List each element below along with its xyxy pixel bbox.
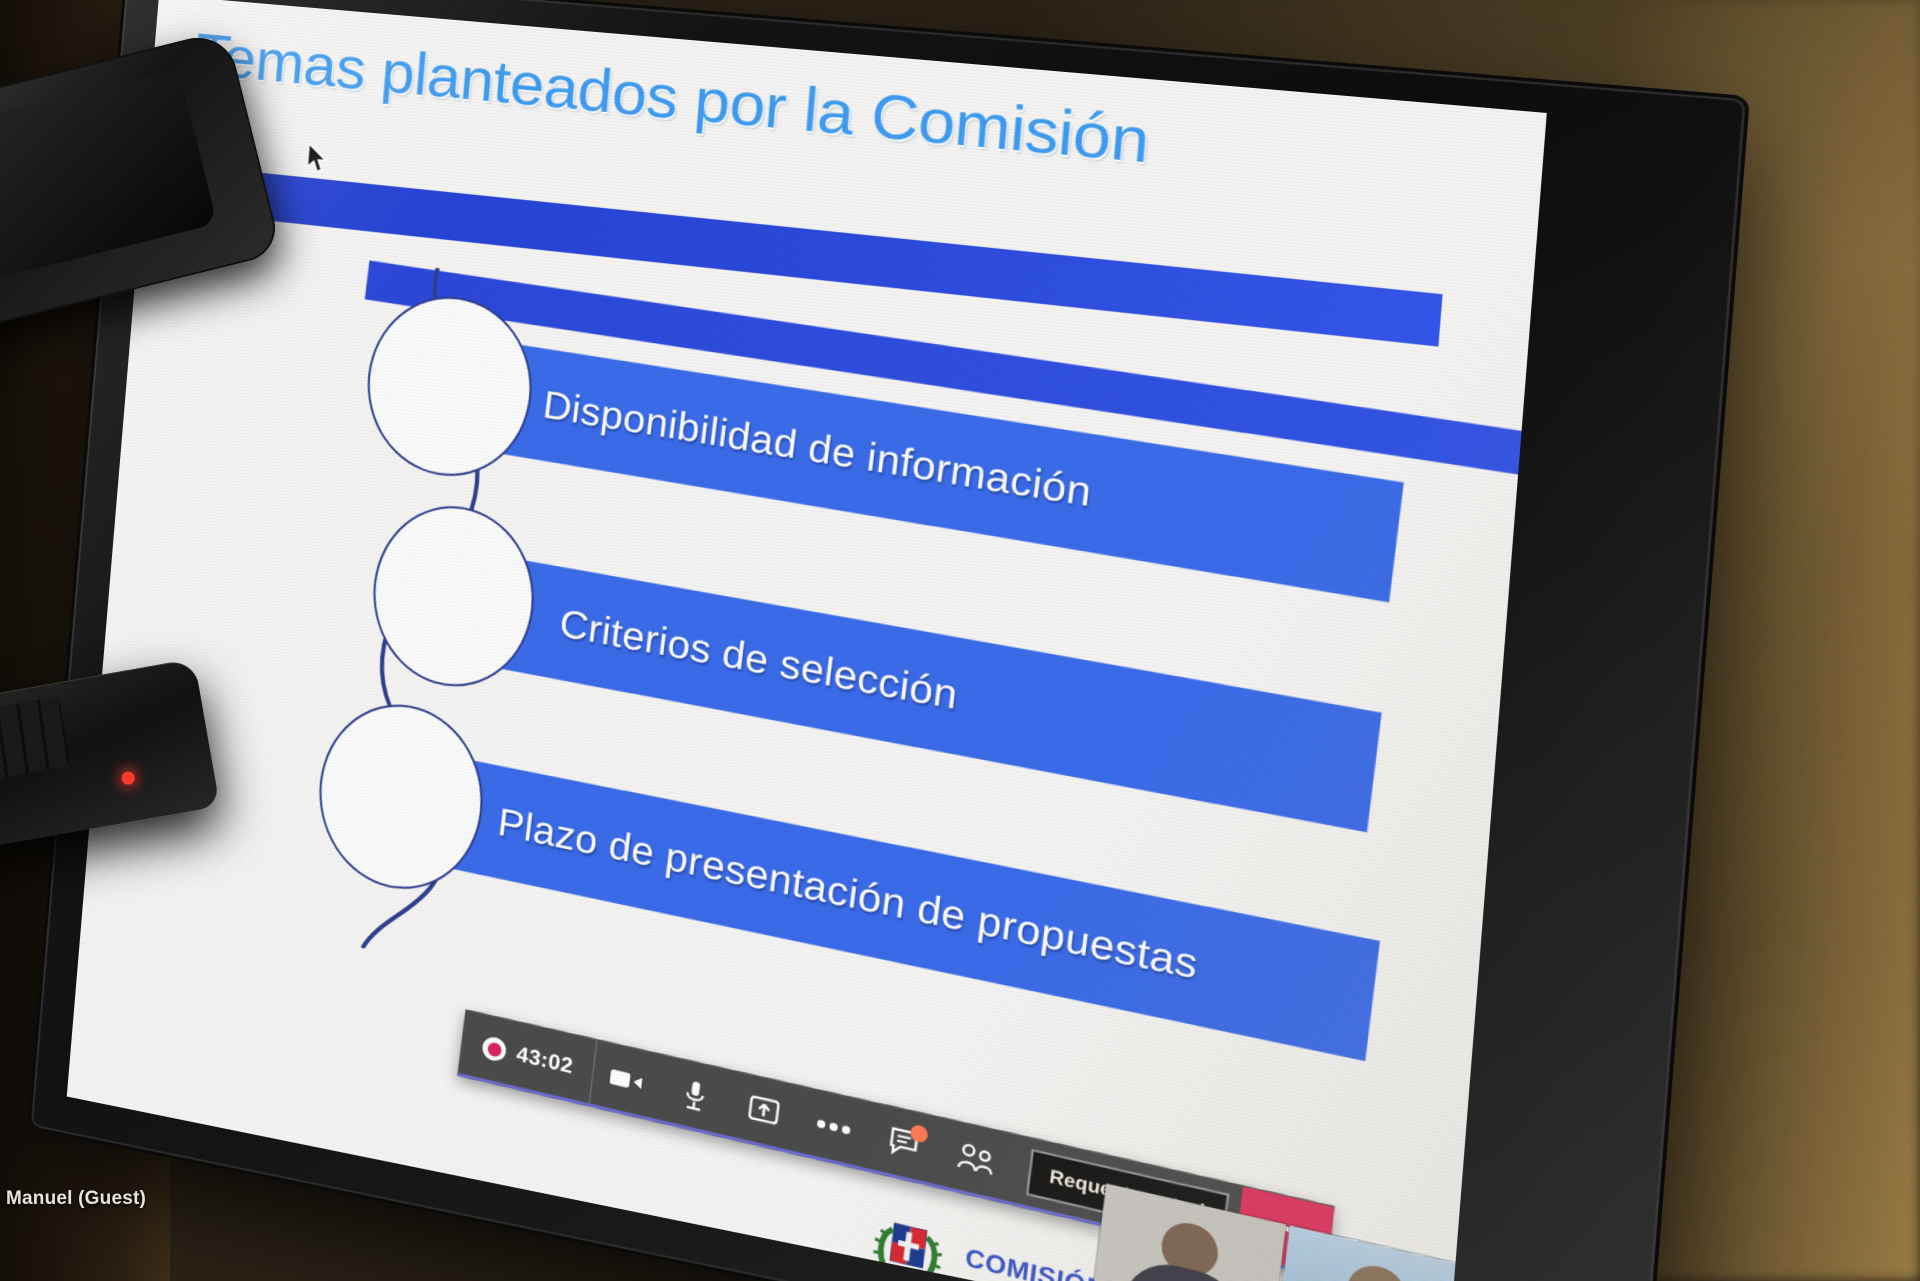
participants-button[interactable] [936,1119,1016,1201]
avatar-head [1344,1260,1408,1281]
recording-timer: 43:02 [515,1042,574,1079]
laptop-keyboard [0,697,71,809]
laptop-base [0,658,220,875]
hangup-button[interactable] [1235,1187,1335,1276]
slide-footer-text: COMISIÓN DE VEEDURÍA CIUDADANA DECRETO 1… [960,1243,1502,1281]
share-screen-button[interactable] [725,1071,802,1151]
room-scene: Temas planteados por la Comisión [0,0,1920,1281]
presenter-name-label: Manuel (Guest) [6,1188,146,1210]
accent-bar-second [365,260,1547,488]
participant-thumbnails[interactable] [1092,1184,1476,1281]
camera-button[interactable] [589,1040,664,1119]
microphone-button[interactable] [657,1055,733,1135]
bullet-bar-2 [406,542,1382,833]
laptop-lid [0,29,282,344]
laptop-lid-inner [0,68,217,296]
bullet-row-2: Criterios de selección [419,542,1425,721]
request-control-button[interactable]: Request control [1025,1149,1229,1241]
bullet-circle-2 [363,494,543,701]
bullet-row-1: Disponibilidad de información [403,327,1428,487]
camera-icon [607,1063,647,1097]
connector-spine [282,257,611,983]
microphone-icon [680,1076,710,1114]
slide-footer: COMISIÓN DE VEEDURÍA CIUDADANA DECRETO 1… [864,1209,1504,1281]
participant-thumbnail-1[interactable] [1092,1184,1286,1281]
share-screen-icon [745,1091,783,1131]
hangup-icon [1262,1215,1307,1247]
bullet-label-2: Criterios de selección [406,542,1382,833]
slide-footer-line2: DECRETO 145/20 [960,1273,1498,1281]
bullet-row-3: Plazo de presentación de propuestas [359,738,1405,946]
bullet-bar-1 [390,327,1404,603]
bullet-label-3: Plazo de presentación de propuestas [346,738,1380,1061]
record-dot-icon [481,1035,507,1063]
participant-thumbnail-2[interactable] [1275,1225,1476,1281]
more-options-button[interactable] [794,1087,872,1168]
participants-icon [954,1140,997,1180]
avatar-torso [1123,1255,1246,1281]
more-options-icon [813,1116,853,1138]
bullet-circle-1 [358,285,542,488]
bullet-label-1: Disponibilidad de información [390,327,1404,603]
chat-button[interactable] [864,1103,943,1185]
laptop-silhouette [0,72,310,902]
slide-footer-line1: COMISIÓN DE VEEDURÍA CIUDADANA [964,1243,1502,1281]
bullet-bar-3 [346,738,1380,1061]
avatar-head [1159,1218,1221,1281]
chat-unread-badge [909,1124,928,1144]
chat-icon [886,1124,922,1162]
laptop-power-led [121,771,136,786]
